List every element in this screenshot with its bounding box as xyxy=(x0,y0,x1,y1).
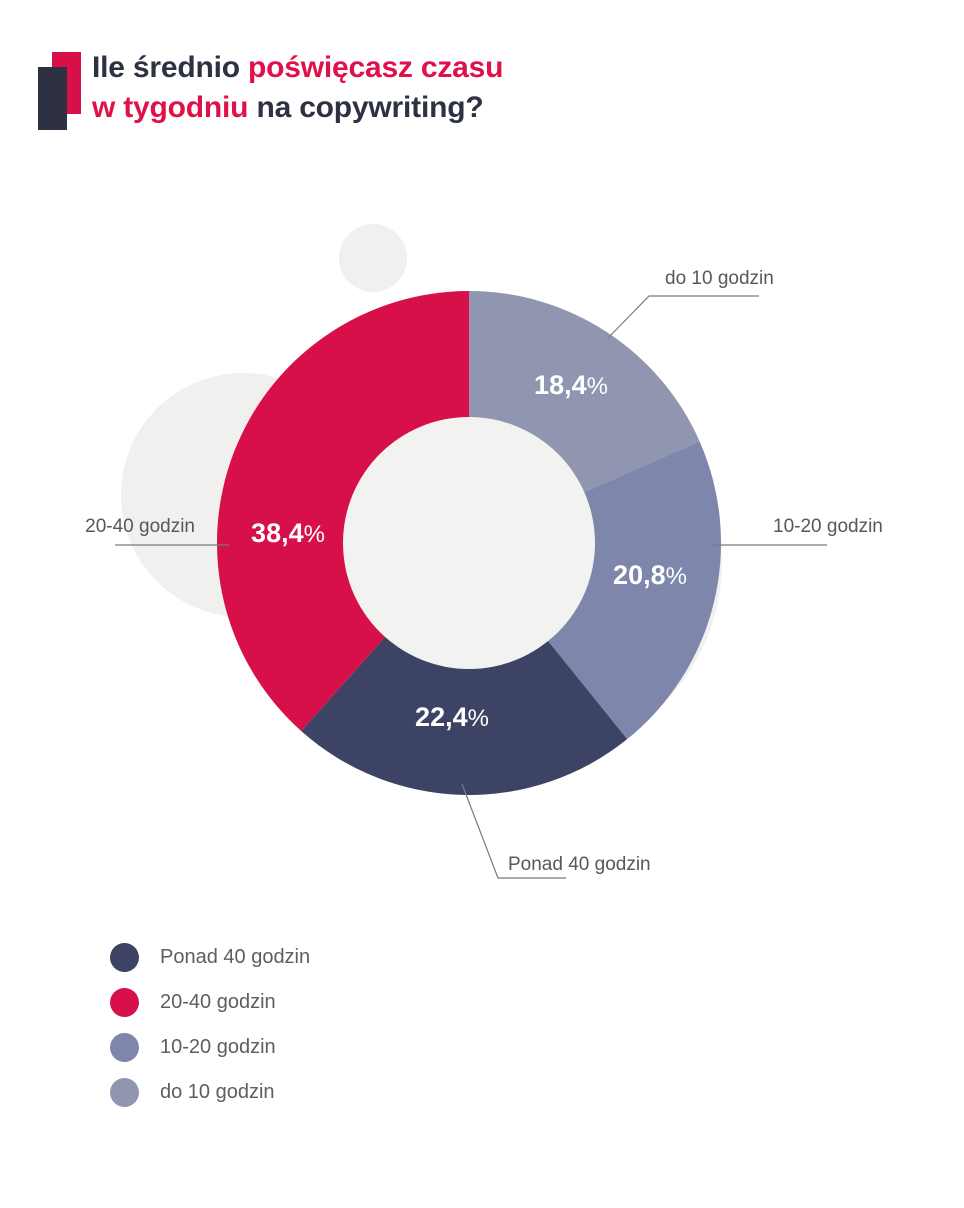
callout-leader-line-top-right xyxy=(608,296,759,338)
callout-label-bottom: Ponad 40 godzin xyxy=(508,854,651,875)
title-part-2-highlight: poświęcasz czasu xyxy=(248,51,503,84)
slice-value-number-3: 38,4 xyxy=(251,518,304,548)
logo-bar-navy xyxy=(38,67,67,130)
title-part-3-highlight: w tygodniu xyxy=(92,91,248,124)
slice-value-number-0: 18,4 xyxy=(534,370,587,400)
legend-label-0: Ponad 40 godzin xyxy=(160,946,310,969)
slice-value-10-20-godzin: 20,8% xyxy=(613,560,687,590)
legend-item-10-20-godzin[interactable]: 10-20 godzin xyxy=(110,1025,530,1070)
callout-do-10-godzin: do 10 godzin xyxy=(608,268,774,338)
page-title: Ile średnio poświęcasz czasu w tygodniu … xyxy=(92,48,752,127)
legend-item-do-10-godzin[interactable]: do 10 godzin xyxy=(110,1070,530,1115)
slice-value-20-40-godzin: 38,4% xyxy=(251,518,325,548)
legend-label-1: 20-40 godzin xyxy=(160,991,276,1014)
title-part-4: na copywriting? xyxy=(248,91,483,124)
legend-swatch-icon-1 xyxy=(110,988,139,1017)
logo-mark-icon xyxy=(38,52,82,130)
decor-circle-small xyxy=(339,224,407,292)
legend-item-20-40-godzin[interactable]: 20-40 godzin xyxy=(110,980,530,1025)
donut-hole xyxy=(343,417,595,669)
legend-item-ponad-40-godzin[interactable]: Ponad 40 godzin xyxy=(110,935,530,980)
legend-swatch-icon-3 xyxy=(110,1078,139,1107)
slice-value-ponad-40-godzin: 22,4% xyxy=(415,702,489,732)
slice-value-percent-0: % xyxy=(587,373,608,400)
legend-swatch-icon-2 xyxy=(110,1033,139,1062)
header: Ile średnio poświęcasz czasu w tygodniu … xyxy=(0,0,964,170)
slice-value-number-1: 20,8 xyxy=(613,560,666,590)
callout-label-left: 20-40 godzin xyxy=(85,516,195,537)
title-part-1: Ile średnio xyxy=(92,51,248,84)
legend-label-3: do 10 godzin xyxy=(160,1081,275,1104)
donut-chart-svg: 18,4% 20,8% 22,4% 38,4% do 10 godzin 10-… xyxy=(0,170,964,930)
callout-ponad-40-godzin: Ponad 40 godzin xyxy=(462,784,651,878)
donut-chart: 18,4% 20,8% 22,4% 38,4% do 10 godzin 10-… xyxy=(0,170,964,930)
callout-label-top-right: do 10 godzin xyxy=(665,268,774,289)
slice-value-percent-1: % xyxy=(666,563,687,590)
callout-10-20-godzin: 10-20 godzin xyxy=(713,516,883,545)
legend-swatch-icon-0 xyxy=(110,943,139,972)
legend-label-2: 10-20 godzin xyxy=(160,1036,276,1059)
slice-value-percent-3: % xyxy=(304,521,325,548)
slice-value-number-2: 22,4 xyxy=(415,702,468,732)
slice-value-do-10-godzin: 18,4% xyxy=(534,370,608,400)
legend: Ponad 40 godzin 20-40 godzin 10-20 godzi… xyxy=(110,935,530,1115)
slice-value-percent-2: % xyxy=(468,705,489,732)
callout-label-right: 10-20 godzin xyxy=(773,516,883,537)
